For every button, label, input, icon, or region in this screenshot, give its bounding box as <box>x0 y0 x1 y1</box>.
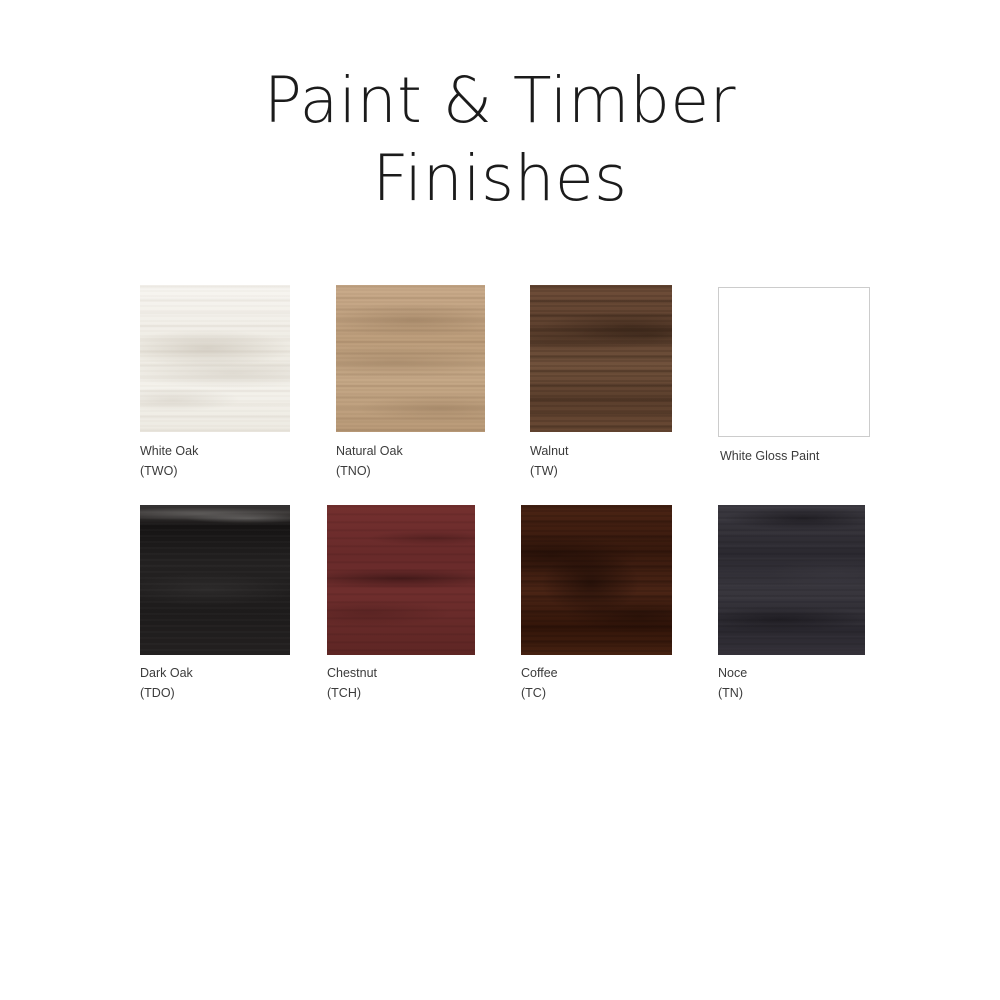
swatch-code: (TDO) <box>140 683 193 703</box>
swatch-label-dark-oak: Dark Oak(TDO) <box>140 663 193 703</box>
swatch-cell-chestnut[interactable]: Chestnut(TCH) <box>327 505 475 707</box>
swatch-label-chestnut: Chestnut(TCH) <box>327 663 377 703</box>
swatch-cell-coffee[interactable]: Coffee(TC) <box>521 505 672 707</box>
swatch-label-white-oak: White Oak(TWO) <box>140 441 198 481</box>
swatch-code: (TW) <box>530 461 568 481</box>
swatch-name: White Gloss Paint <box>720 449 819 463</box>
swatch-code: (TN) <box>718 683 747 703</box>
swatch-cell-natural-oak[interactable]: Natural Oak(TNO) <box>336 285 485 485</box>
swatch-code: (TWO) <box>140 461 198 481</box>
finish-swatch-grid: White Oak(TWO)Natural Oak(TNO)Walnut(TW)… <box>0 0 1000 1000</box>
swatch-code: (TNO) <box>336 461 403 481</box>
swatch-label-white-gloss-paint: White Gloss Paint <box>720 446 819 466</box>
swatch-code: (TC) <box>521 683 558 703</box>
swatch-cell-white-gloss-paint[interactable]: White Gloss Paint <box>718 287 870 490</box>
swatch-label-coffee: Coffee(TC) <box>521 663 558 703</box>
swatch-name: White Oak <box>140 444 198 458</box>
swatch-sample-white-oak[interactable] <box>140 285 290 432</box>
swatch-sample-noce[interactable] <box>718 505 865 655</box>
swatch-sample-chestnut[interactable] <box>327 505 475 655</box>
swatch-name: Noce <box>718 666 747 680</box>
swatch-cell-dark-oak[interactable]: Dark Oak(TDO) <box>140 505 290 707</box>
swatch-sample-white-gloss-paint[interactable] <box>718 287 870 437</box>
swatch-name: Dark Oak <box>140 666 193 680</box>
swatch-name: Natural Oak <box>336 444 403 458</box>
swatch-sample-natural-oak[interactable] <box>336 285 485 432</box>
swatch-cell-white-oak[interactable]: White Oak(TWO) <box>140 285 290 485</box>
swatch-label-noce: Noce(TN) <box>718 663 747 703</box>
swatch-name: Coffee <box>521 666 558 680</box>
swatch-cell-noce[interactable]: Noce(TN) <box>718 505 865 707</box>
swatch-label-natural-oak: Natural Oak(TNO) <box>336 441 403 481</box>
swatch-sample-walnut[interactable] <box>530 285 672 432</box>
swatch-name: Chestnut <box>327 666 377 680</box>
swatch-code: (TCH) <box>327 683 377 703</box>
swatch-cell-walnut[interactable]: Walnut(TW) <box>530 285 672 485</box>
swatch-label-walnut: Walnut(TW) <box>530 441 568 481</box>
swatch-name: Walnut <box>530 444 568 458</box>
swatch-sample-coffee[interactable] <box>521 505 672 655</box>
swatch-sample-dark-oak[interactable] <box>140 505 290 655</box>
